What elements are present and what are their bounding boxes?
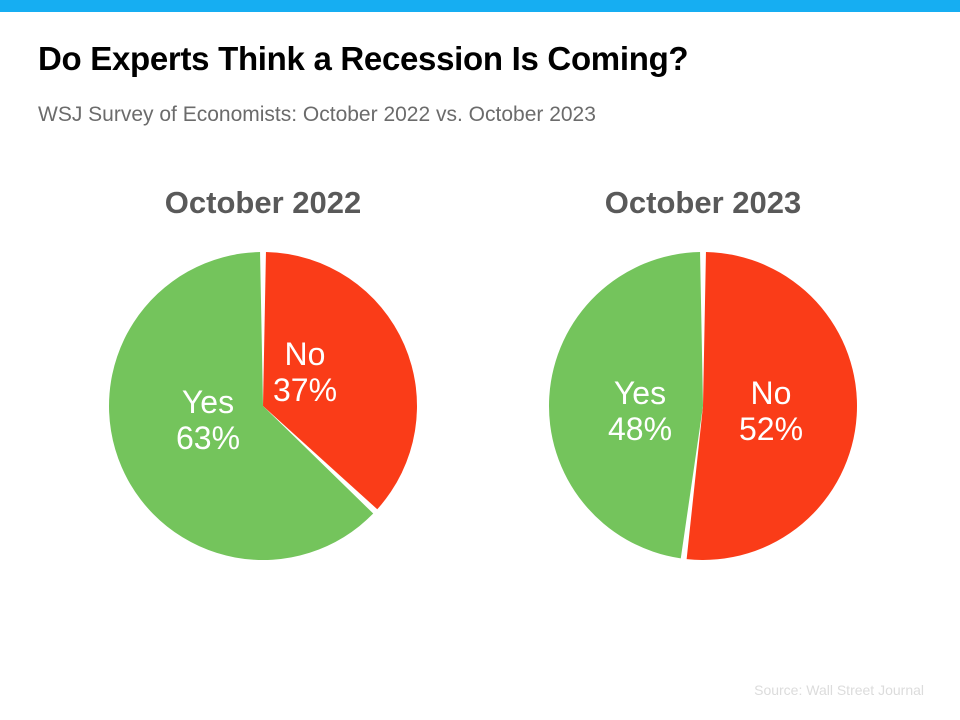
pie-svg-october-2023 [548, 251, 858, 561]
pie-chart-october-2023: No 52% Yes 48% [548, 251, 858, 561]
page-subtitle: WSJ Survey of Economists: October 2022 v… [38, 103, 596, 127]
page-title: Do Experts Think a Recession Is Coming? [38, 40, 688, 78]
chart-panel-october-2023: October 2023 No 52% Yes 48% [548, 185, 858, 561]
panel-title-october-2023: October 2023 [548, 185, 858, 221]
pie-chart-october-2022: No 37% Yes 63% [108, 251, 418, 561]
pie-slice-yes [549, 252, 703, 558]
pie-svg-october-2022 [108, 251, 418, 561]
chart-panel-october-2022: October 2022 No 37% Yes 63% [108, 185, 418, 561]
source-attribution: Source: Wall Street Journal [754, 682, 924, 698]
pie-slice-no [687, 252, 857, 560]
accent-bar [0, 0, 960, 12]
panel-title-october-2022: October 2022 [108, 185, 418, 221]
